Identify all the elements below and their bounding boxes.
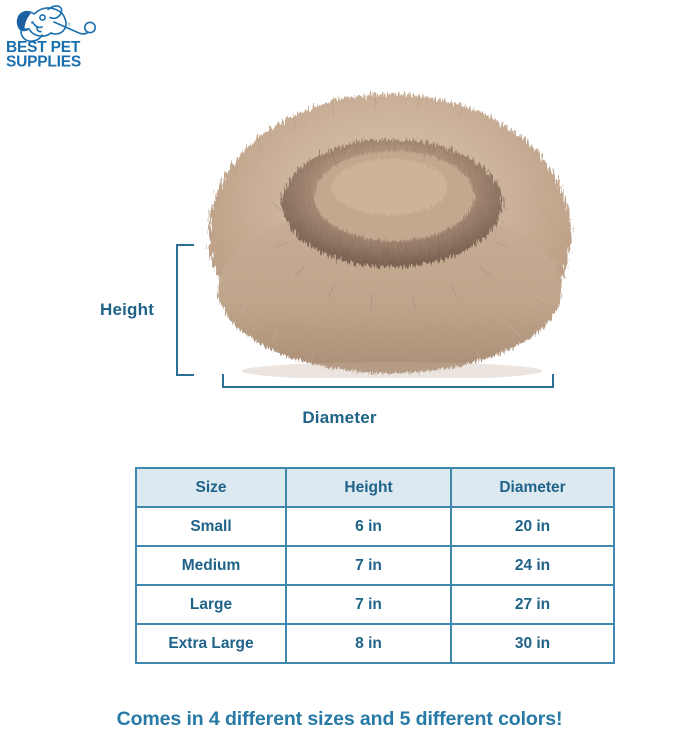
cell-diameter: 20 in	[451, 507, 614, 546]
cell-diameter: 24 in	[451, 546, 614, 585]
round-fluffy-pet-bed	[204, 83, 576, 378]
table-row: Small 6 in 20 in	[136, 507, 614, 546]
column-header-diameter: Diameter	[451, 468, 614, 507]
table-header-row: Size Height Diameter	[136, 468, 614, 507]
height-bracket	[176, 244, 194, 376]
column-header-size: Size	[136, 468, 286, 507]
table-row: Large 7 in 27 in	[136, 585, 614, 624]
logo-text-line2: SUPPLIES	[6, 54, 81, 71]
cell-height: 6 in	[286, 507, 451, 546]
footer-banner-text: Comes in 4 different sizes and 5 differe…	[0, 708, 679, 731]
diameter-bracket	[222, 374, 554, 388]
cell-size: Small	[136, 507, 286, 546]
height-label: Height	[100, 300, 154, 320]
cell-diameter: 27 in	[451, 585, 614, 624]
cell-size: Large	[136, 585, 286, 624]
cell-height: 8 in	[286, 624, 451, 663]
cell-height: 7 in	[286, 546, 451, 585]
column-header-height: Height	[286, 468, 451, 507]
table-row: Medium 7 in 24 in	[136, 546, 614, 585]
brand-logo: ® BEST PET SUPPLIES	[4, 2, 104, 74]
cell-size: Extra Large	[136, 624, 286, 663]
cell-diameter: 30 in	[451, 624, 614, 663]
dog-with-leash-logo: ® BEST PET SUPPLIES	[4, 2, 104, 74]
registered-mark: ®	[68, 22, 72, 29]
size-chart-table: Size Height Diameter Small 6 in 20 in Me…	[135, 467, 615, 664]
table-row: Extra Large 8 in 30 in	[136, 624, 614, 663]
diameter-label: Diameter	[0, 408, 679, 428]
height-annotation: Height	[0, 78, 210, 378]
cell-size: Medium	[136, 546, 286, 585]
cell-height: 7 in	[286, 585, 451, 624]
